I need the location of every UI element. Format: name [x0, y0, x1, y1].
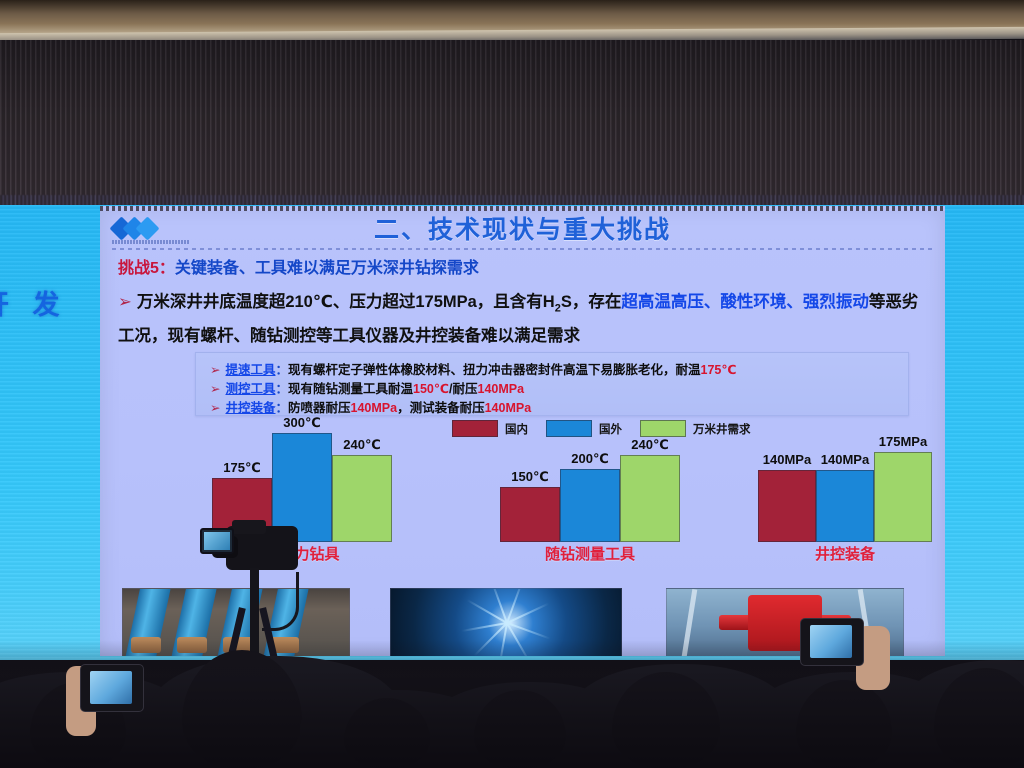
- bullet-seg-1: 万米深井井底温度超210℃、压力超过175MPa，且含有H: [137, 293, 555, 311]
- sub-item-mid: /耐压: [449, 382, 477, 396]
- sub-detail-box: ➢提速工具：现有螺杆定子弹性体橡胶材料、扭力冲击器密封件高温下易膨胀老化，耐温1…: [195, 352, 909, 416]
- bar-国外: 140MPa: [816, 470, 874, 542]
- sub-item-body: 现有螺杆定子弹性体橡胶材料、扭力冲击器密封件高温下易膨胀老化，耐温: [288, 363, 701, 377]
- sub-item-colon: ：: [276, 382, 289, 396]
- sub-item-key: 提速工具: [225, 363, 275, 377]
- camera-monitor-screen: [200, 528, 234, 554]
- legend-swatch: [452, 420, 498, 437]
- legend-label: 万米井需求: [693, 421, 751, 437]
- bullet-seg-2: S，存在: [561, 293, 622, 311]
- sub-arrow-icon: ➢: [210, 363, 220, 377]
- challenge-heading: 挑战5：关键装备、工具难以满足万米深井钻探需求: [118, 254, 479, 278]
- sub-item-1: ➢测控工具：现有随钻测量工具耐温150℃/耐压140MPa: [210, 378, 524, 397]
- bar-value-label: 240℃: [343, 437, 380, 453]
- bar-value-label: 150℃: [511, 469, 548, 485]
- sub-item-key: 测控工具: [225, 382, 275, 396]
- audience-phone-left: [80, 664, 144, 712]
- bar-value-label: 175MPa: [879, 434, 927, 449]
- title-divider: [112, 248, 932, 250]
- bar-group: 150℃200℃240℃随钻测量工具: [500, 410, 680, 542]
- bar-国内: 150℃: [500, 487, 560, 542]
- bar-group-label: 随钻测量工具: [545, 543, 635, 564]
- sub-item-value: 175℃: [701, 363, 737, 377]
- bar-value-label: 140MPa: [821, 452, 869, 467]
- slide-title: 二、技术现状与重大挑战: [100, 210, 945, 246]
- stage-curtain: [0, 40, 1024, 210]
- bar-value-label: 175℃: [223, 460, 260, 476]
- sub-item-value-2: 140MPa: [478, 382, 525, 396]
- bar-group: 140MPa140MPa175MPa井控装备: [758, 420, 932, 542]
- sub-arrow-icon: ➢: [210, 382, 220, 396]
- sub-item-0: ➢提速工具：现有螺杆定子弹性体橡胶材料、扭力冲击器密封件高温下易膨胀老化，耐温1…: [210, 359, 737, 378]
- backdrop-partial-text: 开 发: [0, 283, 68, 322]
- sub-item-mid: ，测试装备耐压: [397, 401, 485, 415]
- main-bullet: ➢万米深井井底温度超210℃、压力超过175MPa，且含有H2S，存在超高温高压…: [118, 288, 923, 350]
- bar-value-label: 300℃: [283, 415, 320, 431]
- challenge-tag: 挑战5：: [118, 260, 175, 277]
- challenge-text: 关键装备、工具难以满足万米深井钻探需求: [175, 260, 479, 277]
- bullet-highlight: 超高温高压、酸性环境、强烈振动: [621, 293, 869, 311]
- sub-item-value: 150℃: [413, 382, 449, 396]
- bar-国内: 140MPa: [758, 470, 816, 542]
- bar-万米井需求: 175MPa: [874, 452, 932, 542]
- bar-value-label: 140MPa: [763, 452, 811, 467]
- bullet-arrow-icon: ➢: [118, 293, 132, 311]
- conference-photo-scene: 开 发 二、技术现状与重大挑战 挑战5：关键装备、工具难以满足万米深井钻探需求 …: [0, 0, 1024, 768]
- sub-item-body: 现有随钻测量工具耐温: [288, 382, 413, 396]
- bar-国外: 200℃: [560, 469, 620, 542]
- bar-万米井需求: 240℃: [332, 455, 392, 542]
- bar-万米井需求: 240℃: [620, 455, 680, 542]
- bar-value-label: 200℃: [571, 451, 608, 467]
- audience-phone-right: [800, 618, 864, 666]
- sub-item-colon: ：: [276, 363, 289, 377]
- bar-group-label: 井控装备: [815, 543, 875, 564]
- bar-value-label: 240℃: [631, 437, 668, 453]
